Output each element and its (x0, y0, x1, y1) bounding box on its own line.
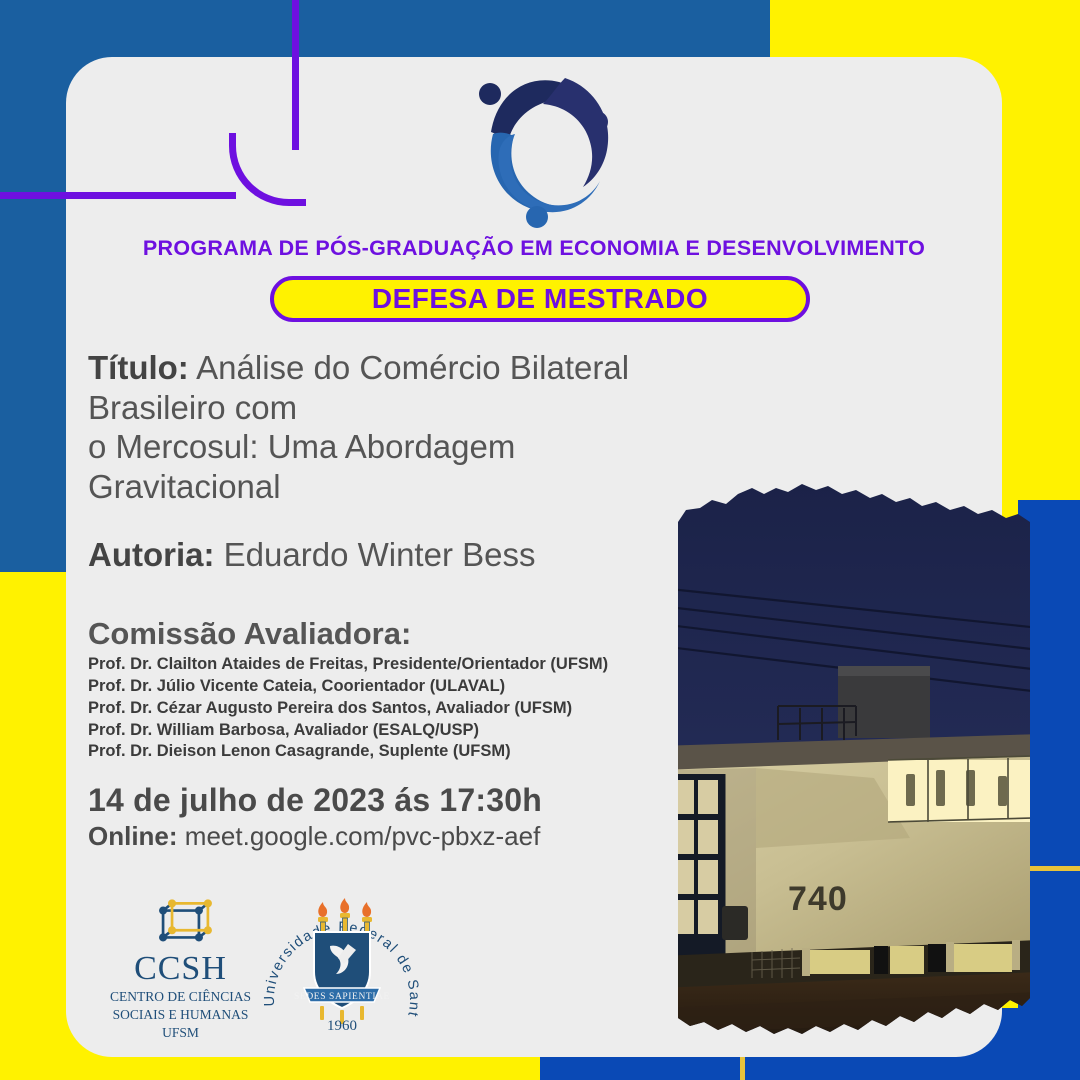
ccsh-network-icon (108, 898, 253, 950)
event-date: 14 de julho de 2023 ás 17:30h (88, 782, 708, 819)
poster-canvas: PROGRAMA DE PÓS-GRADUAÇÃO EM ECONOMIA E … (0, 0, 1080, 1080)
ccsh-name-line2: SOCIAIS E HUMANAS (108, 1007, 253, 1022)
committee-member: Prof. Dr. Cézar Augusto Pereira dos Sant… (88, 698, 688, 720)
program-title: PROGRAMA DE PÓS-GRADUAÇÃO EM ECONOMIA E … (66, 236, 1002, 261)
committee-member: Prof. Dr. Clailton Ataides de Freitas, P… (88, 654, 688, 676)
ccsh-institution: UFSM (108, 1025, 253, 1041)
committee-heading: Comissão Avaliadora: (88, 616, 688, 652)
meeting-link[interactable]: meet.google.com/pvc-pbxz-aef (185, 821, 541, 851)
svg-text:740: 740 (788, 880, 848, 918)
decor-purple-line-horizontal (0, 192, 236, 199)
svg-text:SEDES SAPIENTIAE: SEDES SAPIENTIAE (294, 992, 390, 1002)
defense-type-badge: DEFESA DE MESTRADO (270, 276, 810, 322)
author-block: Autoria: Eduardo Winter Bess (88, 536, 688, 574)
ccsh-name-line1: CENTRO DE CIÊNCIAS (108, 989, 253, 1004)
committee-list: Prof. Dr. Clailton Ataides de Freitas, P… (88, 654, 688, 763)
committee-member: Prof. Dr. William Barbosa, Avaliador (ES… (88, 720, 688, 742)
ccsh-logo: CCSH CENTRO DE CIÊNCIAS SOCIAIS E HUMANA… (108, 898, 253, 1041)
ppged-logo-icon (455, 60, 625, 230)
online-label: Online: (88, 821, 178, 851)
ufsm-founding-year: 1960 (252, 1018, 432, 1035)
decor-purple-line-vertical (292, 0, 299, 150)
committee-member: Prof. Dr. Dieison Lenon Casagrande, Supl… (88, 741, 688, 763)
thesis-title-block: Título: Análise do Comércio Bilateral Br… (88, 348, 688, 506)
thesis-title-line2: o Mercosul: Uma Abordagem Gravitacional (88, 428, 515, 505)
author-name: Eduardo Winter Bess (224, 536, 536, 573)
building-photo: 740 (660, 478, 1040, 1038)
thesis-title-label: Título: (88, 349, 189, 386)
event-details: 14 de julho de 2023 ás 17:30h Online: me… (88, 782, 708, 852)
event-online-block: Online: meet.google.com/pvc-pbxz-aef (88, 821, 708, 852)
committee-member: Prof. Dr. Júlio Vicente Cateia, Coorient… (88, 676, 688, 698)
ufsm-seal-logo: Universidade Federal de Santa Maria (252, 888, 432, 1048)
ccsh-acronym: CCSH (108, 952, 253, 986)
main-content: Título: Análise do Comércio Bilateral Br… (88, 348, 688, 763)
badge-label: DEFESA DE MESTRADO (372, 283, 708, 315)
author-label: Autoria: (88, 536, 215, 573)
